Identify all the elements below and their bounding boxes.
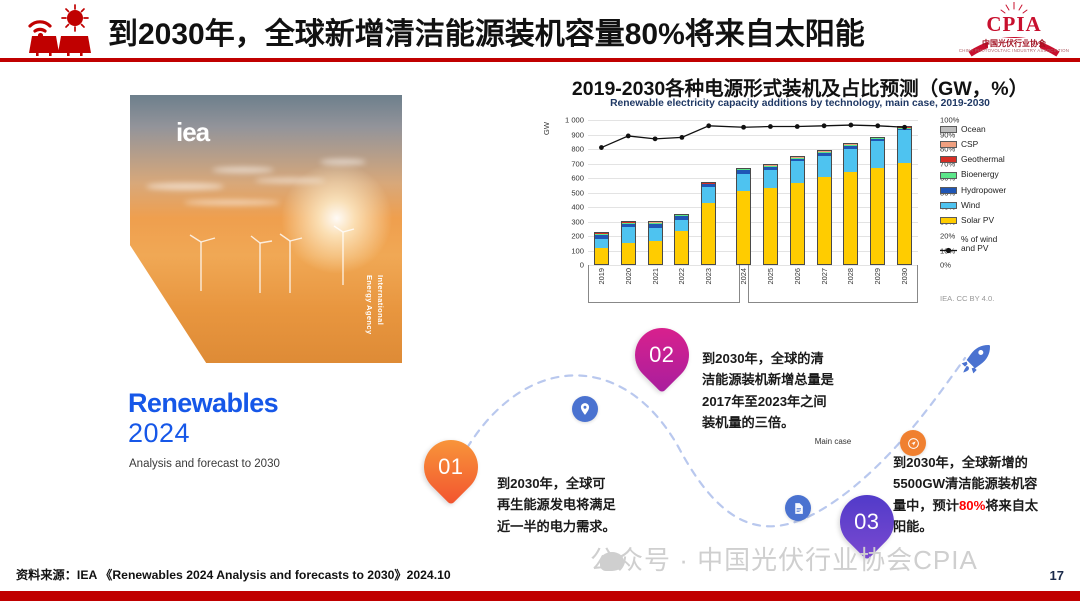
bar-segment-wind <box>790 161 805 183</box>
gridline <box>588 149 918 150</box>
legend-item: Geothermal <box>940 152 1080 167</box>
bar-segment-wind <box>701 187 716 204</box>
iea-report-cover: iea InternationalEnergy Agency Renewable… <box>112 95 402 495</box>
y-tick-label: 600 <box>571 174 584 183</box>
callout-01-line-2: 再生能源发电将满足 <box>497 494 677 515</box>
bar-segment-solar-pv <box>594 248 609 265</box>
chart-bar <box>763 164 778 265</box>
y-tick-label: 0 <box>580 261 584 270</box>
header-divider <box>0 58 1080 62</box>
axis-box-history <box>588 265 740 303</box>
gridline <box>588 222 918 223</box>
bar-segment-solar-pv <box>674 231 689 265</box>
bar-segment-solar-pv <box>736 191 751 265</box>
source-note: 资料来源：IEA 《Renewables 2024 Analysis and f… <box>16 565 451 583</box>
chart-bar <box>897 126 912 265</box>
legend-item: CSP <box>940 137 1080 152</box>
chart-bar <box>790 156 805 265</box>
gridline <box>588 207 918 208</box>
gridline <box>588 178 918 179</box>
y-tick-label: 200 <box>571 232 584 241</box>
legend-swatch <box>940 141 957 148</box>
callout-01-line-1: 到2030年，全球可 <box>497 473 677 494</box>
footer-divider <box>0 591 1080 601</box>
y-tick-label: 100 <box>571 246 584 255</box>
chart-bar <box>594 232 609 265</box>
callout-02-line-2: 洁能源装机新增总量是 <box>702 369 882 390</box>
bar-segment-solar-pv <box>763 188 778 265</box>
iea-agency-name: InternationalEnergy Agency <box>364 275 387 335</box>
page-title: 到2030年，全球新增清洁能源装机容量80%将来自太阳能 <box>108 6 948 56</box>
gridline <box>588 164 918 165</box>
legend-item: Ocean <box>940 122 1080 137</box>
legend-item: Bioenergy <box>940 168 1080 183</box>
watermark: 公众号 · 中国光伏行业协会CPIA <box>590 540 978 577</box>
bar-segment-wind <box>674 220 689 231</box>
document-icon <box>785 495 811 521</box>
legend-swatch <box>940 126 957 133</box>
bar-segment-solar-pv <box>648 241 663 265</box>
page-number: 17 <box>1050 568 1064 583</box>
callout-number-02: 02 <box>649 342 674 368</box>
y-tick-label: 700 <box>571 159 584 168</box>
rocket-icon <box>955 340 995 385</box>
bar-segment-wind <box>648 228 663 242</box>
bar-segment-wind <box>763 170 778 189</box>
cpia-english-name: CHINA PHOTOVOLTAIC INDUSTRY ASSOCIATION <box>958 48 1070 53</box>
callout-03-line-2: 5500GW清洁能源装机容 <box>893 473 1080 494</box>
legend-swatch <box>940 202 957 209</box>
chart-bar <box>843 143 858 265</box>
legend-label: Wind <box>961 201 980 210</box>
chart-panel: 2019-2030各种电源形式装机及占比预测（GW，%） Renewable e… <box>520 72 1080 312</box>
cpia-acronym: CPIA <box>958 12 1070 37</box>
slide-header: 到2030年，全球新增清洁能源装机容量80%将来自太阳能 CPIA 中国光伏行业… <box>0 0 1080 60</box>
chart-legend: OceanCSPGeothermalBioenergyHydropowerWin… <box>940 122 1080 256</box>
chart-plot-area: GW 01002003004005006007008009001 000 0%1… <box>588 120 918 265</box>
bar-segment-wind <box>594 239 609 248</box>
callout-03-highlight: 80% <box>959 498 985 513</box>
solar-panel-logo <box>18 4 100 56</box>
y-tick-label: 500 <box>571 188 584 197</box>
gridline <box>588 236 918 237</box>
bar-segment-solar-pv <box>621 243 636 265</box>
location-pin-icon <box>572 396 598 422</box>
bar-segment-wind <box>897 130 912 163</box>
y-tick-label: 900 <box>571 130 584 139</box>
callout-text-01: 到2030年，全球可 再生能源发电将满足 近一半的电力需求。 <box>497 473 677 537</box>
gridline <box>588 193 918 194</box>
legend-label: Hydropower <box>961 186 1006 195</box>
callout-02-line-4: 装机量的三倍。 <box>702 412 882 433</box>
legend-label: Geothermal <box>961 155 1005 164</box>
callout-03-line-4: 阳能。 <box>893 516 1080 537</box>
slide: 到2030年，全球新增清洁能源装机容量80%将来自太阳能 CPIA 中国光伏行业… <box>0 0 1080 601</box>
bar-segment-solar-pv <box>870 168 885 265</box>
bar-segment-wind <box>843 149 858 172</box>
bar-segment-wind <box>870 141 885 167</box>
callout-01-line-3: 近一半的电力需求。 <box>497 516 677 537</box>
callout-03-line-1: 到2030年，全球新增的 <box>893 452 1080 473</box>
cover-year: 2024 <box>128 418 190 449</box>
cover-title: Renewables <box>128 388 278 419</box>
cover-photo: iea InternationalEnergy Agency <box>130 95 402 363</box>
cover-subtitle: Analysis and forecast to 2030 <box>129 458 280 470</box>
legend-item: Hydropower <box>940 183 1080 198</box>
chart-credit: IEA. CC BY 4.0. <box>940 294 994 303</box>
legend-line-marker <box>940 241 957 248</box>
y-axis-label: GW <box>542 122 551 135</box>
y-tick-label: 300 <box>571 217 584 226</box>
bar-segment-solar-pv <box>790 183 805 265</box>
chart-bar <box>817 150 832 265</box>
legend-label: CSP <box>961 140 978 149</box>
legend-label: Solar PV <box>961 216 994 225</box>
y-tick-label: 1 000 <box>565 116 584 125</box>
cpia-logo: CPIA 中国光伏行业协会 CHINA PHOTOVOLTAIC INDUSTR… <box>958 2 1070 58</box>
legend-swatch <box>940 217 957 224</box>
bar-segment-solar-pv <box>843 172 858 265</box>
chart-bar <box>674 214 689 265</box>
chart-bar <box>621 221 636 265</box>
bar-segment-wind <box>736 174 751 191</box>
x-tick-label: 2024 <box>739 268 748 284</box>
legend-label: Bioenergy <box>961 170 999 179</box>
y-tick-label: 800 <box>571 145 584 154</box>
bar-segment-solar-pv <box>897 163 912 265</box>
chart-bar <box>736 168 751 265</box>
gridline <box>588 251 918 252</box>
legend-swatch <box>940 187 957 194</box>
bar-segment-solar-pv <box>701 203 716 265</box>
iea-brand-mark: iea <box>176 117 209 148</box>
chart-bar <box>870 137 885 265</box>
legend-swatch <box>940 156 957 163</box>
chart-bar <box>701 182 716 265</box>
legend-item: % of windand PV <box>940 232 1080 256</box>
gridline <box>588 120 918 121</box>
legend-item: Wind <box>940 198 1080 213</box>
legend-label: Ocean <box>961 125 986 134</box>
bar-segment-wind <box>621 227 636 243</box>
callout-02-line-3: 2017年至2023年之间 <box>702 391 882 412</box>
bar-segment-wind <box>817 156 832 177</box>
legend-swatch <box>940 172 957 179</box>
callout-number-01: 01 <box>438 454 463 480</box>
callout-text-02: 到2030年，全球的清 洁能源装机新增总量是 2017年至2023年之间 装机量… <box>702 348 882 434</box>
legend-label: % of windand PV <box>961 235 997 254</box>
callout-number-03: 03 <box>854 509 879 535</box>
gridline <box>588 135 918 136</box>
y-tick-label: 400 <box>571 203 584 212</box>
legend-item: Solar PV <box>940 213 1080 228</box>
callout-03-line-3: 量中，预计80%将来自太 <box>893 495 1080 516</box>
axis-box-forecast: Main case <box>748 265 918 303</box>
bar-segment-solar-pv <box>817 177 832 265</box>
chart-bar <box>648 221 663 265</box>
y2-tick-label: 0% <box>940 261 951 270</box>
callout-text-03: 到2030年，全球新增的5500GW清洁能源装机容量中，预计80%将来自太阳能。 <box>893 452 1080 538</box>
chart-subtitle: Renewable electricity capacity additions… <box>520 98 1080 109</box>
chart-title: 2019-2030各种电源形式装机及占比预测（GW，%） <box>520 72 1080 101</box>
callout-02-line-1: 到2030年，全球的清 <box>702 348 882 369</box>
